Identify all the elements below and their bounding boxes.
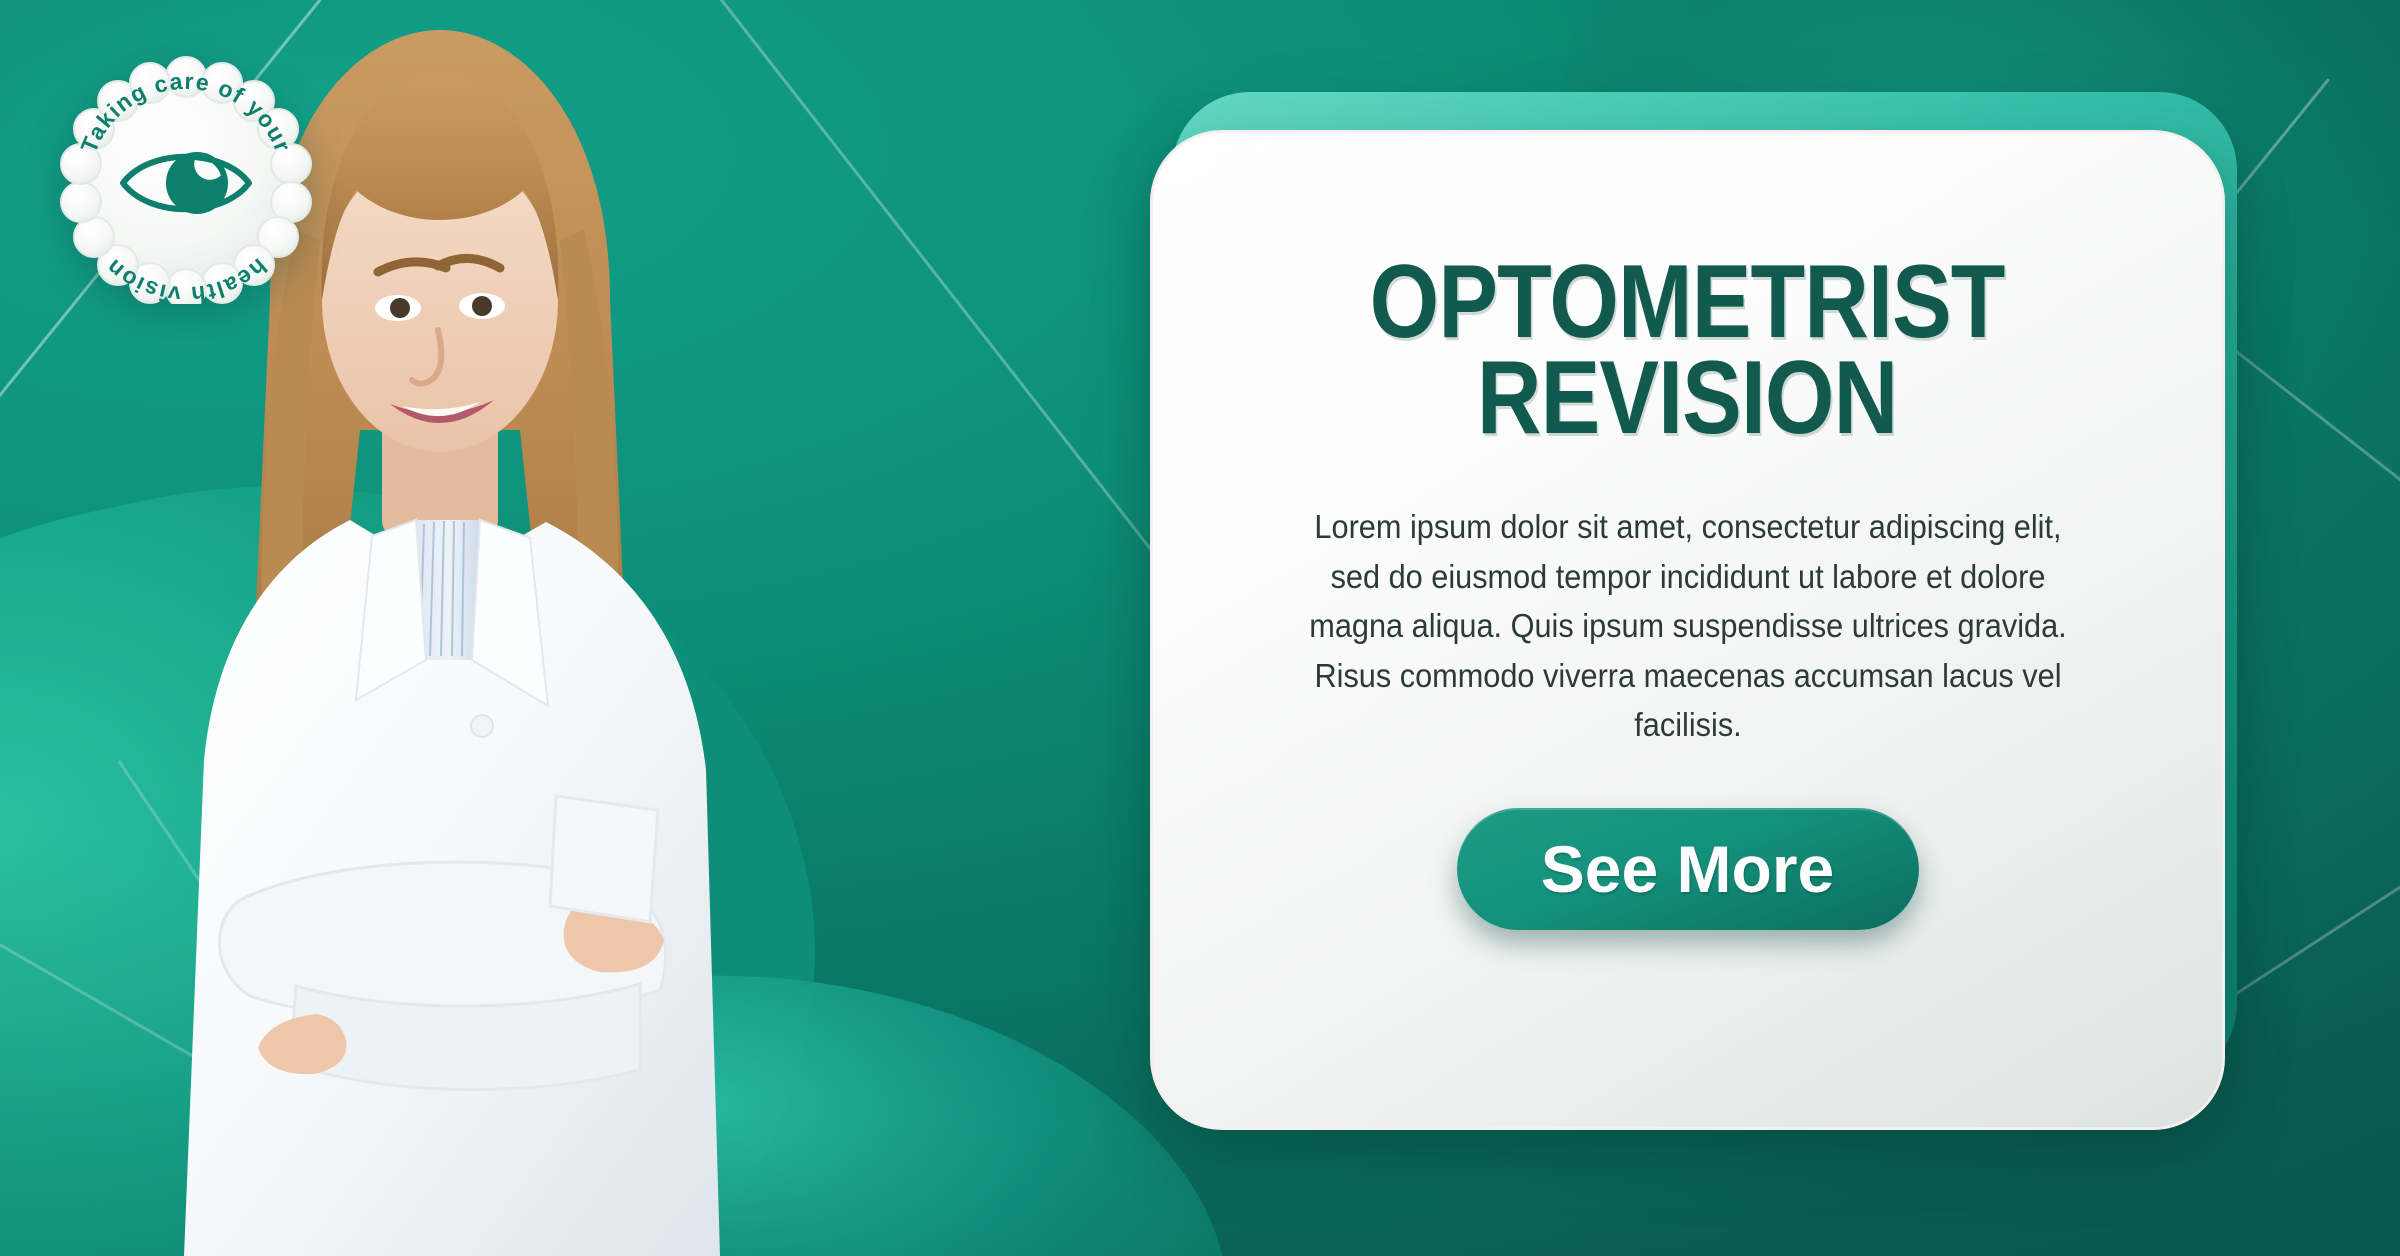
- quality-seal-badge: Taking care of your health vision: [45, 42, 327, 304]
- headline-line-1: OPTOMETRIST: [1370, 255, 2005, 351]
- headline-line-2: REVISION: [1370, 351, 2005, 447]
- content-card: OPTOMETRIST REVISION Lorem ipsum dolor s…: [1150, 130, 2225, 1130]
- promo-banner: Taking care of your health vision OPTOME…: [0, 0, 2400, 1256]
- content-card-stack: OPTOMETRIST REVISION Lorem ipsum dolor s…: [1150, 92, 2300, 1172]
- page-title: OPTOMETRIST REVISION: [1370, 255, 2005, 446]
- see-more-button[interactable]: See More: [1457, 808, 1919, 930]
- body-paragraph: Lorem ipsum dolor sit amet, consectetur …: [1302, 502, 2074, 750]
